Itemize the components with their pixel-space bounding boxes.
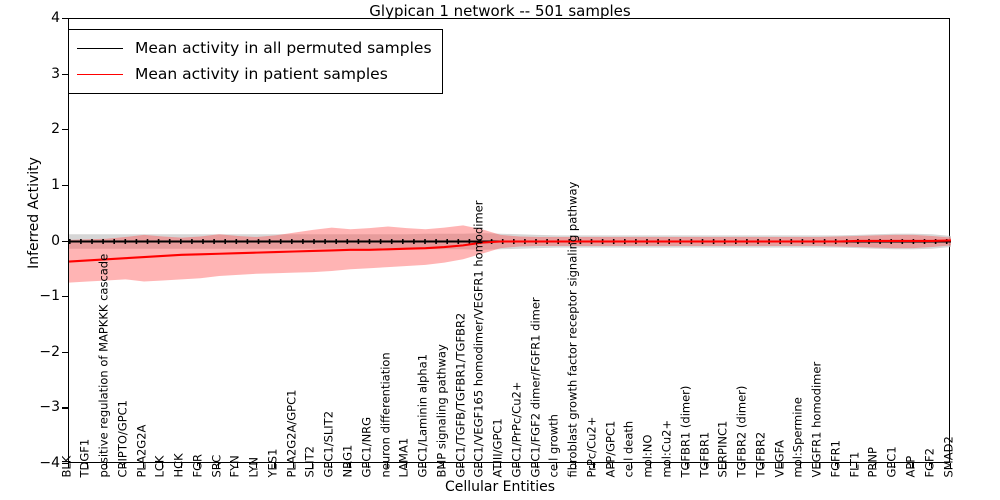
x-tick-label: APP/GPC1 bbox=[605, 421, 617, 478]
legend-label-permuted: Mean activity in all permuted samples bbox=[135, 39, 432, 57]
x-tick-label: SERPINC1 bbox=[718, 421, 730, 478]
x-tick-label: FGR bbox=[192, 454, 204, 478]
chart-figure: Glypican 1 network -- 501 samples Inferr… bbox=[0, 0, 1000, 500]
x-tick-label: GPC1/SLIT2 bbox=[324, 411, 336, 478]
x-tick-label: TGFBR2 (dimer) bbox=[737, 386, 749, 478]
x-tick-label: LAMA1 bbox=[399, 438, 411, 478]
x-tick-label: TGFBR1 bbox=[699, 432, 711, 478]
x-tick-label: YES1 bbox=[267, 449, 279, 478]
x-tick-label: mol:Spermine bbox=[793, 397, 805, 477]
legend-entry-permuted: Mean activity in all permuted samples bbox=[77, 35, 432, 61]
x-tick-label: GPC1 bbox=[887, 446, 899, 477]
x-tick-label: TDGF1 bbox=[80, 439, 92, 478]
chart-legend: Mean activity in all permuted samples Me… bbox=[68, 29, 443, 94]
x-tick-label: GPC1/VEGF165 homodimer/VEGFR1 homodimer bbox=[474, 201, 486, 478]
x-tick-label: GPC1/NRG bbox=[361, 417, 373, 478]
x-tick-label: GPC1/TGFB/TGFBR1/TGFBR2 bbox=[455, 313, 467, 478]
x-tick-label: PLA2G2A/GPC1 bbox=[286, 390, 298, 478]
x-tick-label: SLIT2 bbox=[305, 446, 317, 477]
x-tick-label: BMP signaling pathway bbox=[436, 344, 448, 477]
legend-label-patient: Mean activity in patient samples bbox=[135, 65, 388, 83]
x-tick-label: VEGFA bbox=[774, 440, 786, 477]
x-tick-label: ATIII/GPC1 bbox=[493, 418, 505, 477]
x-tick-label: SMAD2 bbox=[943, 436, 955, 477]
x-tick-label: HCK bbox=[174, 453, 186, 477]
x-tick-label: TGFBR2 bbox=[755, 432, 767, 478]
legend-entry-patient: Mean activity in patient samples bbox=[77, 61, 432, 87]
x-tick-label: CRIPTO/GPC1 bbox=[117, 400, 129, 478]
x-tick-label: cell death bbox=[624, 421, 636, 478]
x-tick-label: GPC1/FGF2 dimer/FGFR1 dimer bbox=[530, 297, 542, 477]
x-tick-label: FYN bbox=[230, 455, 242, 477]
x-tick-label: FGFR1 bbox=[830, 440, 842, 477]
x-tick-label: TGFBR1 (dimer) bbox=[680, 386, 692, 478]
x-tick-label: cell growth bbox=[549, 414, 561, 477]
x-tick-label: fibroblast growth factor receptor signal… bbox=[568, 182, 580, 478]
x-tick-label: SRC bbox=[211, 455, 223, 478]
x-tick-label: PrPc/Cu2+ bbox=[586, 417, 598, 478]
x-tick-label: GPC1/PrPc/Cu2+ bbox=[511, 382, 523, 478]
x-tick-label: positive regulation of MAPKKK cascade bbox=[99, 254, 111, 478]
x-tick-label: VEGFR1 homodimer bbox=[812, 362, 824, 478]
x-tick-label: FLT1 bbox=[849, 452, 861, 478]
x-tick-label: GPC1/Laminin alpha1 bbox=[418, 354, 430, 478]
x-tick-label: PRNP bbox=[868, 447, 880, 477]
x-tick-label: mol:NO bbox=[643, 435, 655, 478]
x-tick-label: PLA2G2A bbox=[136, 425, 148, 478]
x-tick-label: LCK bbox=[155, 456, 167, 478]
x-tick-label: neuron differentiation bbox=[380, 352, 392, 477]
x-tick-label: APP bbox=[905, 456, 917, 478]
x-tick-label: FGF2 bbox=[924, 448, 936, 477]
x-tick-label: NRG1 bbox=[342, 445, 354, 478]
legend-swatch-permuted bbox=[77, 48, 123, 49]
x-tick-label: LYN bbox=[249, 457, 261, 478]
legend-swatch-patient bbox=[77, 74, 123, 75]
x-tick-label: mol:Cu2+ bbox=[662, 420, 674, 478]
x-tick-label: BLK bbox=[61, 456, 73, 478]
